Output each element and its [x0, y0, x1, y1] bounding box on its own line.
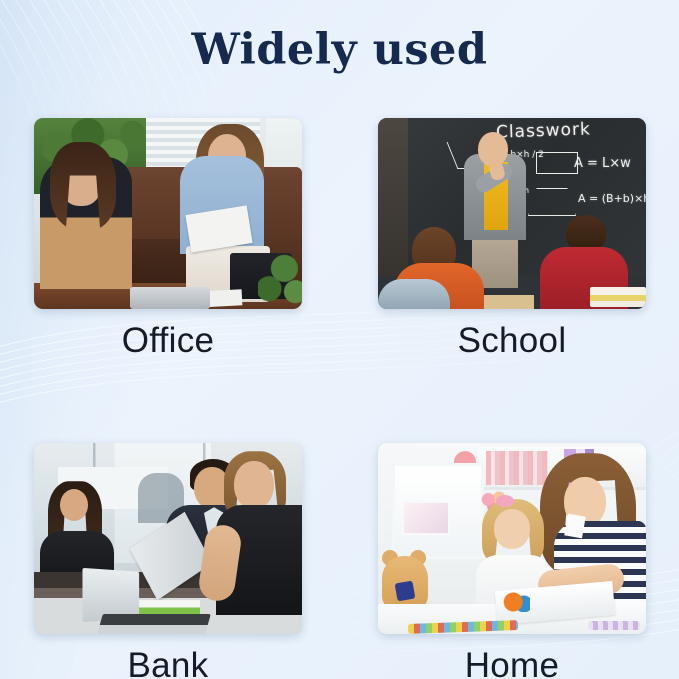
card-home[interactable]: Home	[378, 443, 646, 679]
grid-row-bottom: Bank	[34, 443, 646, 679]
school-wall-left	[378, 118, 408, 276]
home-shelf-books	[486, 451, 548, 485]
card-office[interactable]: Office	[34, 118, 302, 361]
blackboard-heading: Classwork	[496, 119, 592, 142]
card-school[interactable]: Classwork = b×h / 2 A = L×w A = (B+b)×h …	[378, 118, 646, 361]
blackboard-formula-2: A = L×w	[574, 156, 631, 171]
school-scene: Classwork = b×h / 2 A = L×w A = (B+b)×h …	[378, 118, 646, 309]
teacher-head	[478, 132, 508, 166]
photo-home[interactable]	[378, 443, 646, 634]
home-craft-supplies	[502, 592, 530, 612]
home-girl-head	[494, 509, 530, 549]
blackboard-rectangle-shape	[536, 152, 578, 174]
card-caption-office: Office	[34, 321, 302, 361]
photo-school[interactable]: Classwork = b×h / 2 A = L×w A = (B+b)×h …	[378, 118, 646, 309]
home-scene	[378, 443, 646, 634]
school-books	[590, 287, 646, 307]
home-colored-pencils-right	[588, 621, 640, 630]
bank-scene	[34, 443, 302, 634]
bank-laptop-keyboard	[97, 614, 211, 634]
office-plant-right	[258, 251, 302, 309]
blackboard-formula-3: A = (B+b)×h	[578, 192, 646, 205]
page-title: Widely used	[0, 27, 679, 74]
usage-scenarios-grid: Office Classwork = b×h / 2 A = L×w A = (…	[34, 118, 646, 679]
card-caption-home: Home	[378, 646, 646, 679]
card-caption-bank: Bank	[34, 646, 302, 679]
office-scene	[34, 118, 302, 309]
photo-bank[interactable]	[34, 443, 302, 634]
card-bank[interactable]: Bank	[34, 443, 302, 679]
office-laptop-silver	[130, 287, 210, 309]
card-caption-school: School	[378, 321, 646, 361]
bank-woman-right-head	[234, 461, 274, 509]
student-red-head	[566, 215, 606, 251]
teddy-bear-bib	[395, 581, 416, 602]
home-wall-picture	[402, 501, 450, 535]
home-mother-strap	[564, 514, 586, 539]
grid-row-top: Office Classwork = b×h / 2 A = L×w A = (…	[34, 118, 646, 361]
student-blue-shirt	[378, 279, 450, 309]
photo-office[interactable]	[34, 118, 302, 309]
